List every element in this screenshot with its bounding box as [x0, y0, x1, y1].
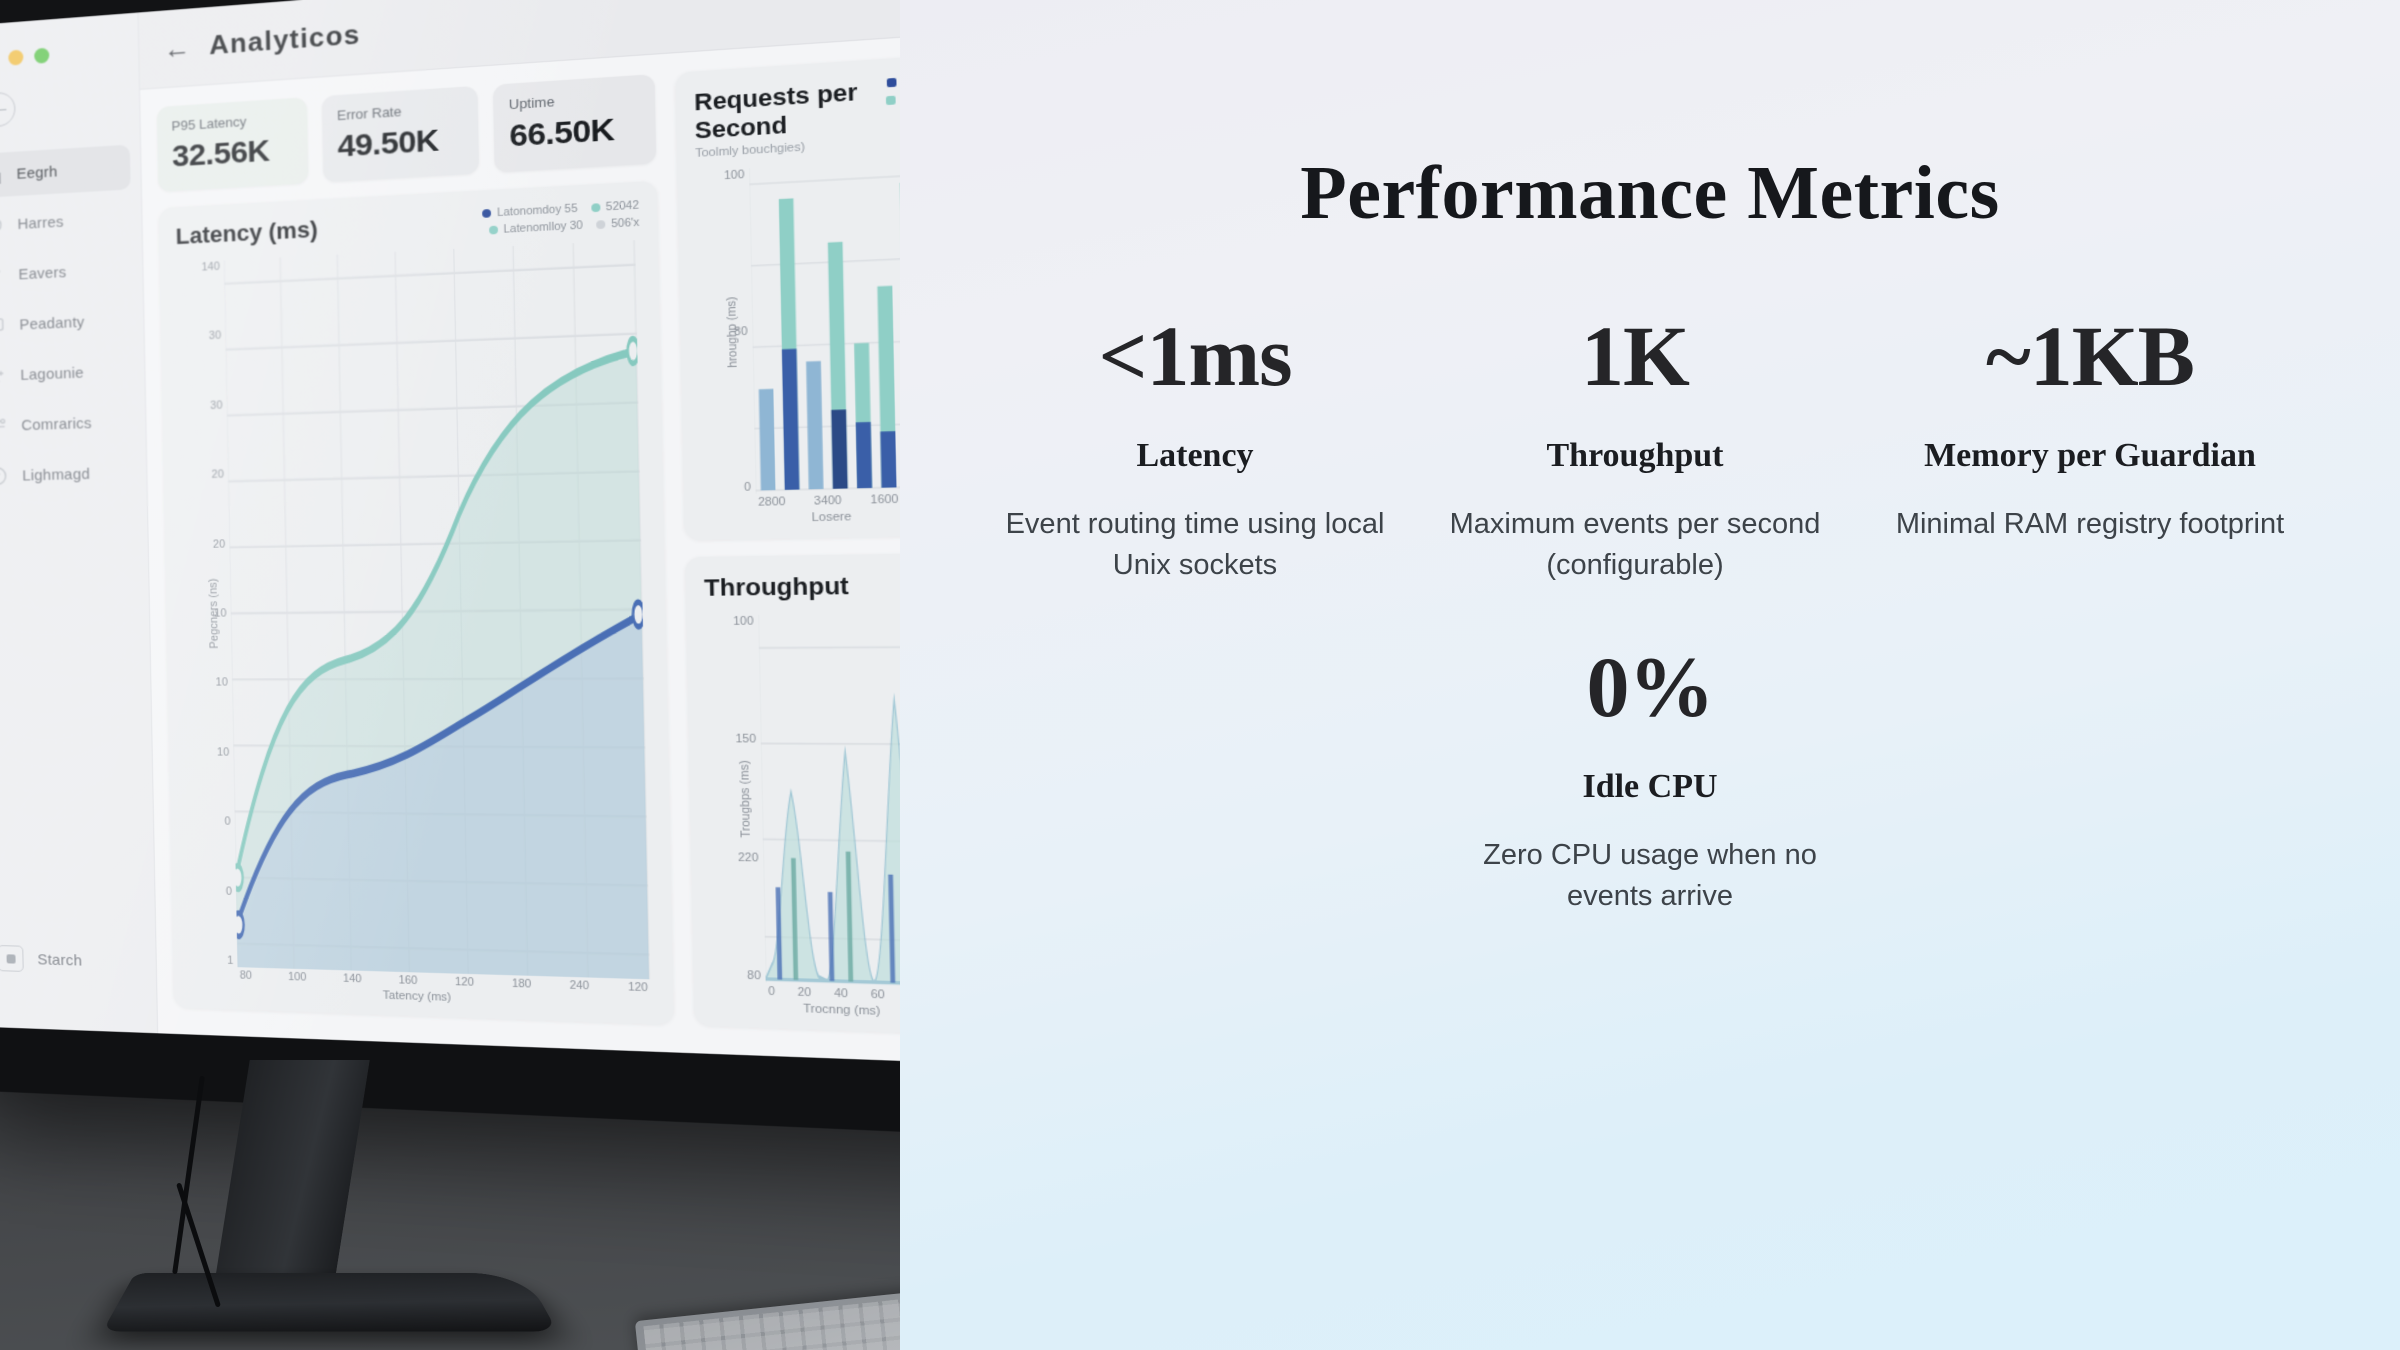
kpi-label: Uptime: [509, 88, 640, 112]
y-tick: 20: [190, 538, 225, 551]
chart-title: Latency (ms): [175, 216, 317, 250]
metric-label: Latency: [994, 435, 1396, 478]
sidebar-item-comrarics[interactable]: Comrarics: [0, 399, 136, 449]
y-tick: 220: [719, 851, 759, 865]
sidebar-item-label: Lighmagd: [22, 465, 90, 484]
card-header: Throughput 38 mval 34 wqz: [704, 571, 900, 605]
sidebar-item-label: Starch: [37, 951, 82, 970]
x-tick: 80: [240, 969, 252, 982]
y-tick: 0: [196, 884, 232, 897]
legend-label: Latenomlloy 30: [503, 219, 583, 236]
metric-value: <1ms: [994, 311, 1396, 401]
sidebar-item-label: Lagounie: [20, 364, 84, 384]
kpi-label: P95 Latency: [171, 111, 292, 134]
kpi-label: Error Rate: [337, 99, 463, 123]
chart-legend: 5Genneo Unisonga: [859, 72, 900, 109]
legend-label: Latonomdoy 55: [497, 202, 578, 219]
metric-value: ~1KB: [1874, 311, 2306, 401]
metric-description: Event routing time using local Unix sock…: [994, 504, 1396, 586]
x-tick: 240: [569, 979, 589, 992]
sidebar-item-label: Comrarics: [21, 414, 92, 433]
dashboard-app: Eegrh ? Harres Eavers: [0, 0, 900, 1065]
metric-description: Maximum events per second (configurable): [1434, 504, 1836, 586]
sidebar-item-eegrh[interactable]: Eegrh: [0, 145, 131, 199]
y-tick: 140: [184, 260, 219, 274]
x-tick: 3400: [814, 494, 842, 508]
legend-item: 506'x: [596, 216, 639, 231]
users-icon: [0, 264, 5, 287]
metric-card-idle-cpu: 0% Idle CPU Zero CPU usage when no event…: [1435, 642, 1865, 917]
sidebar-item-label: Eavers: [18, 263, 66, 282]
throughput-chart-card: Throughput 38 mval 34 wqz Trougbps (ms): [685, 552, 900, 1035]
chart-legend: 38 mval 34 wqz: [848, 571, 900, 603]
dashboard-content: ← Analyticos P95 Latency 32.56K: [139, 0, 900, 1065]
requests-series-svg: [749, 157, 900, 494]
slide-title: Performance Metrics: [1300, 150, 1999, 237]
sidebar-item-label: Eegrh: [16, 163, 57, 183]
y-tick: 0: [195, 815, 231, 828]
help-circle-icon: ?: [0, 214, 4, 237]
metric-value: 1K: [1434, 311, 1836, 401]
kpi-value: 66.50K: [509, 111, 640, 155]
message-icon: [0, 314, 6, 337]
x-tick: 40: [834, 987, 848, 1001]
kpi-value: 32.56K: [172, 132, 294, 174]
latency-plot: Pegcners (ns) 140 30 30 20 20 10: [176, 240, 655, 980]
sliders-icon: [0, 415, 8, 438]
latency-series-svg: [224, 240, 650, 979]
monitor-screen: Eegrh ? Harres Eavers: [0, 0, 900, 1065]
board-column-right: Requests per Second Toolmly bouchgies) 5…: [675, 53, 900, 1035]
sidebar-item-label: Peadanty: [19, 313, 84, 333]
latency-chart-card: Latency (ms) Latonomdoy 55 52042 Latenom…: [159, 181, 674, 1025]
requests-chart-card: Requests per Second Toolmly bouchgies) 5…: [675, 53, 900, 540]
x-tick: 140: [343, 972, 362, 985]
legend-label: 52042: [606, 199, 639, 214]
metric-description: Minimal RAM registry footprint: [1874, 504, 2306, 545]
user-plus-icon: [0, 364, 7, 387]
app-sidebar: Eegrh ? Harres Eavers: [0, 12, 158, 1033]
metric-card-throughput: 1K Throughput Maximum events per second …: [1420, 311, 1850, 586]
back-icon[interactable]: ←: [164, 34, 191, 63]
legend-item: Unisonga: [885, 90, 900, 108]
maximize-icon[interactable]: [34, 48, 49, 64]
kpi-value: 49.50K: [337, 122, 463, 165]
requests-plot: hroughp (ms) 100 80 0: [696, 156, 900, 494]
legend-item: 5Genneo: [886, 72, 900, 90]
metric-label: Idle CPU: [1449, 766, 1851, 809]
metric-label: Throughput: [1434, 435, 1836, 478]
y-tick: 150: [716, 733, 756, 746]
help-circle-icon: ?: [0, 465, 9, 488]
y-tick: 1: [198, 954, 234, 967]
y-tick: 10: [191, 607, 227, 620]
x-tick: 1600: [870, 493, 898, 507]
legend-item: Latonomdoy 55: [483, 202, 578, 220]
sidebar-item-harres[interactable]: ? Harres: [0, 195, 132, 248]
chart-title: Throughput: [704, 572, 849, 602]
metric-card-memory-per-guardian: ~1KB Memory per Guardian Minimal RAM reg…: [1860, 311, 2320, 586]
chart-title: Requests per Second: [694, 78, 861, 145]
x-tick: 180: [512, 977, 532, 990]
metric-label: Memory per Guardian: [1874, 435, 2306, 478]
x-tick: 100: [288, 971, 307, 984]
sidebar-item-peadanty[interactable]: Peadanty: [0, 297, 134, 349]
board-column-left: P95 Latency 32.56K Error Rate 49.50K Upt…: [157, 74, 674, 1024]
throughput-plot: Trougbps (ms) 100 150 220 80: [705, 613, 900, 989]
kpi-card-uptime[interactable]: Uptime 66.50K: [493, 74, 657, 173]
kpi-card-error-rate[interactable]: Error Rate 49.50K: [322, 86, 479, 183]
monitor: Eegrh ? Harres Eavers: [0, 0, 900, 1138]
metric-description: Zero CPU usage when no events arrive: [1449, 835, 1851, 917]
metrics-row-bottom: 0% Idle CPU Zero CPU usage when no event…: [960, 642, 2340, 973]
card-header: Requests per Second Toolmly bouchgies) 5…: [694, 72, 900, 160]
window-controls[interactable]: [0, 27, 139, 95]
add-button[interactable]: [0, 91, 16, 127]
y-tick: 0: [711, 481, 751, 495]
sidebar-item-label: Harres: [17, 213, 63, 233]
metric-value: 0%: [1449, 642, 1851, 732]
x-tick: 120: [628, 981, 648, 995]
kpi-card-p95-latency[interactable]: P95 Latency 32.56K: [157, 97, 309, 192]
y-tick: 100: [705, 168, 745, 183]
metrics-panel: Performance Metrics <1ms Latency Event r…: [900, 0, 2400, 1350]
x-tick: 20: [797, 986, 811, 1000]
photo-panel: Eegrh ? Harres Eavers: [0, 0, 900, 1350]
legend-item: Latenomlloy 30: [489, 219, 583, 237]
metric-card-latency: <1ms Latency Event routing time using lo…: [980, 311, 1410, 586]
home-icon: [0, 164, 3, 187]
sidebar-item-lighmagd[interactable]: ? Lighmagd: [0, 450, 137, 499]
legend-label: 506'x: [611, 216, 639, 230]
y-tick: 10: [194, 746, 230, 759]
y-tick: 20: [188, 468, 223, 481]
y-axis-ticks: 100 150 220 80: [714, 615, 761, 983]
svg-text:?: ?: [0, 472, 1, 483]
slide-root: Eegrh ? Harres Eavers: [0, 0, 2400, 1350]
monitor-stand-base: [102, 1273, 557, 1332]
x-tick: 60: [871, 988, 885, 1002]
y-tick: 100: [714, 615, 754, 628]
chart-legend: Latonomdoy 55 52042 Latenomlloy 30 506'x: [384, 199, 639, 242]
x-tick: 0: [768, 985, 775, 998]
throughput-series-svg: [758, 613, 900, 989]
x-tick: 120: [455, 976, 474, 989]
metrics-row-top: <1ms Latency Event routing time using lo…: [960, 311, 2340, 642]
y-axis-ticks: 100 80 0: [705, 168, 751, 494]
kpi-row: P95 Latency 32.56K Error Rate 49.50K Upt…: [157, 74, 657, 192]
y-tick: 80: [708, 325, 748, 340]
y-tick: 80: [721, 968, 761, 982]
sidebar-item-lagounie[interactable]: Lagounie: [0, 348, 135, 399]
dashboard-board: P95 Latency 32.56K Error Rate 49.50K Upt…: [140, 31, 900, 1065]
sidebar-item-starch[interactable]: Starch: [0, 944, 156, 976]
x-tick: 160: [398, 974, 417, 987]
sidebar-item-eavers[interactable]: Eavers: [0, 246, 133, 298]
search-icon: [0, 945, 24, 972]
x-tick: 2800: [758, 495, 786, 509]
x-axis-label: Trocnng (ms): [712, 996, 900, 1023]
legend-item: 52042: [591, 199, 639, 214]
page-title: Analyticos: [209, 18, 361, 61]
minimize-icon[interactable]: [8, 50, 23, 66]
y-tick: 30: [187, 399, 222, 412]
y-tick: 10: [192, 677, 228, 689]
y-tick: 30: [186, 330, 221, 344]
